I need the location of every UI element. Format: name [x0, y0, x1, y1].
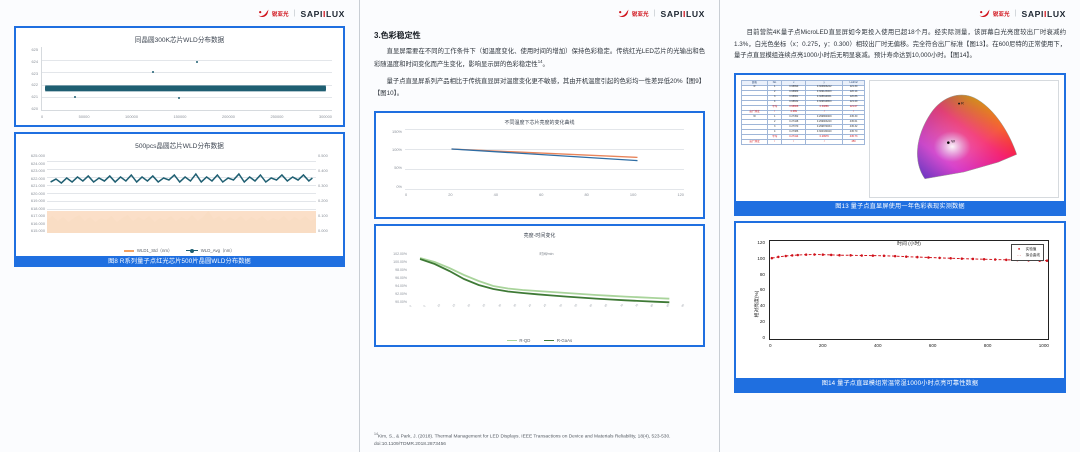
figure-9-y-axis: 150% 100% 50% 0%: [381, 129, 402, 189]
figure-14: 相对亮度(%) 120100 8060 4020 0: [734, 221, 1066, 393]
figure-7-plot: 625 624 623 622 621 620: [41, 47, 332, 125]
legend-item-gaas: GaAs: [512, 216, 535, 219]
slide-deck: 锐亚光 | SAPIILUX 同晶圆300K芯片WLD分布数据 625 624 …: [0, 0, 1080, 452]
color-measurement-table: 颜色 No. x y Lcd/m2 R10.688990.30680622212…: [741, 80, 865, 145]
figure-8-body: 500pcs晶圆芯片WLD分布数据 625.000624.000 623.000…: [16, 134, 343, 256]
swoosh-icon: [979, 9, 990, 18]
svg-text:W: W: [951, 138, 955, 143]
figure-10-plot: 102.00%100.00% 98.00%96.00% 94.00%92.00%…: [409, 252, 684, 336]
table-body: R10.688990.306806222121.3020.688890.3091…: [742, 85, 865, 144]
section-heading: 3.色彩稳定性: [374, 30, 705, 41]
logo-divider: |: [654, 10, 656, 17]
figure-10-caption: 图10 量子点红光芯片与GaAs红光芯片随开机时间亮度衰减对比: [376, 345, 703, 347]
logo-chinese-text: 锐亚光: [993, 10, 1010, 18]
figure-14-canvas: ●实验值 - -拟合曲线: [769, 240, 1049, 340]
wld-std-area-series: [47, 211, 316, 233]
legend-item-fit: - -拟合曲线: [1015, 252, 1040, 258]
figure-14-legend: ●实验值 - -拟合曲线: [1011, 244, 1044, 261]
figure-10-title: 亮度-时间变化: [381, 232, 698, 239]
swoosh-icon: [258, 9, 269, 18]
figure-9-x-axis: 020 4060 80100 120: [405, 192, 684, 197]
legend-item-wld-avg: WLD_Avg（nm）: [186, 248, 234, 254]
legend-item-r-gaas: R-GaAs: [544, 338, 572, 343]
figure-14-plot: 相对亮度(%) 120100 8060 4020 0: [769, 240, 1049, 368]
figure-10-legend: R-QD R-GaAs: [381, 338, 698, 343]
figure-13-caption: 图13 量子点直显屏使用一年色彩表现实测数据: [736, 201, 1064, 214]
figure-8: 500pcs晶圆芯片WLD分布数据 625.000624.000 623.000…: [14, 132, 345, 267]
figure-8-plot: 625.000624.000 623.000622.000 621.000620…: [47, 153, 316, 245]
brand-logo: 锐亚光 | SAPIILUX: [618, 9, 705, 19]
cell-l: 450: [843, 140, 865, 145]
cell-x: /: [782, 140, 806, 145]
cell-y: /: [806, 140, 843, 145]
page-right: 锐亚光 | SAPIILUX 目前营院4K量子点MicroLED直显屏如今距投入…: [720, 0, 1080, 452]
logo-bar-mid: 锐亚光 | SAPIILUX: [374, 6, 705, 21]
footnote: 14Kim, S., & Park, J. (2018). Thermal Ma…: [374, 427, 705, 448]
swoosh-icon: [618, 9, 629, 18]
table-row: 出厂测试///450: [742, 140, 865, 145]
figure-7-body: 同晶圆300K芯片WLD分布数据 625 624 623 622 621 620: [16, 28, 343, 127]
figure-7-canvas: [41, 47, 332, 111]
figure-8-caption: 图8 R系列量子点红光芯片500片晶圆WLD分布数据: [16, 256, 343, 267]
figure-13-body: 颜色 No. x y Lcd/m2 R10.688990.30680622212…: [736, 75, 1064, 201]
figure-8-y-axis-left: 625.000624.000 623.000622.000 621.000620…: [21, 153, 45, 233]
figure-9-body: 不同温度下芯片亮度的变化曲线 150% 100% 50% 0%: [376, 113, 703, 219]
figure-8-canvas: [47, 153, 316, 233]
figure-9-legend: GaAs RJ: [381, 216, 698, 219]
figure-8-title: 500pcs晶圆芯片WLD分布数据: [21, 140, 338, 150]
wld-data-band: [45, 86, 326, 91]
figure-7-y-axis: 625 624 623 622 621 620: [21, 47, 38, 111]
brand-logo: 锐亚光 | SAPIILUX: [979, 9, 1066, 19]
figure-9: 不同温度下芯片亮度的变化曲线 150% 100% 50% 0%: [374, 111, 705, 219]
figure-14-body: 相对亮度(%) 120100 8060 4020 0: [736, 223, 1064, 378]
figure-10-y-axis: 102.00%100.00% 98.00%96.00% 94.00%92.00%…: [381, 252, 407, 304]
logo-chinese-text: 锐亚光: [272, 10, 289, 18]
figure-9-plot: 150% 100% 50% 0% 020: [405, 129, 684, 205]
legend-item-rj: RJ: [549, 216, 567, 219]
figure-10-body: 亮度-时间变化 102.00%100.00% 98.00%96.00% 94.0…: [376, 226, 703, 345]
figure-10-canvas: [409, 252, 684, 304]
brand-logo: 锐亚光 | SAPIILUX: [258, 9, 345, 19]
figure-9-canvas: [405, 129, 684, 189]
legend-item-r-qd: R-QD: [507, 338, 530, 343]
logo-bar-left: 锐亚光 | SAPIILUX: [14, 6, 345, 21]
cell-group: 出厂测试: [742, 140, 768, 145]
page-left: 锐亚光 | SAPIILUX 同晶圆300K芯片WLD分布数据 625 624 …: [0, 0, 360, 452]
figure-7: 同晶圆300K芯片WLD分布数据 625 624 623 622 621 620: [14, 26, 345, 127]
figure-13: 颜色 No. x y Lcd/m2 R10.688990.30680622212…: [734, 73, 1066, 216]
logo-english-text: SAPIILUX: [661, 9, 705, 19]
paragraph-1: 直显屏需要在不同的工作条件下（如温度变化、使用时间的增加）保持色彩稳定。传统红光…: [374, 46, 705, 70]
figure-8-legend: WLD1_Std（nm） WLD_Avg（nm）: [21, 248, 338, 254]
figure-14-y-axis: 120100 8060 4020 0: [749, 240, 765, 340]
wld-avg-line-series: [47, 171, 316, 189]
cie-chromaticity-diagram: W R: [869, 80, 1059, 198]
logo-chinese-text: 锐亚光: [632, 10, 649, 18]
figure-10: 亮度-时间变化 102.00%100.00% 98.00%96.00% 94.0…: [374, 224, 705, 347]
paragraph-2: 量子点直显屏系列产品相比于传统直显屏对温度变化更不敏感，其由开机温度引起的色彩均…: [374, 76, 705, 99]
cell-no: /: [768, 140, 782, 145]
logo-divider: |: [1015, 10, 1017, 17]
figure-14-x-axis: 0200 400600 8001000: [769, 343, 1049, 348]
page-middle: 锐亚光 | SAPIILUX 3.色彩稳定性 直显屏需要在不同的工作条件下（如温…: [360, 0, 720, 452]
logo-english-text: SAPIILUX: [301, 9, 345, 19]
right-paragraph: 目前营院4K量子点MicroLED直显屏如今距投入使用已超18个月。经实际测量，…: [734, 27, 1066, 62]
figure-14-caption: 图14 量子点直显模组常温常湿1000小时点亮可靠性数据: [736, 378, 1064, 391]
legend-item-wld-std: WLD1_Std（nm）: [124, 248, 172, 254]
figure-9-title: 不同温度下芯片亮度的变化曲线: [381, 119, 698, 126]
svg-text:R: R: [961, 100, 964, 105]
logo-english-text: SAPIILUX: [1022, 9, 1066, 19]
logo-divider: |: [294, 10, 296, 17]
figure-7-x-axis: 0 50000 100000 150000 200000 250000 3000…: [41, 114, 332, 119]
logo-bar-right: 锐亚光 | SAPIILUX: [734, 6, 1066, 21]
figure-8-y-axis-right: 0.5000.400 0.3000.200 0.1000.000: [318, 153, 338, 233]
figure-7-title: 同晶圆300K芯片WLD分布数据: [21, 34, 338, 44]
figure-10-x-axis: 05 1015 2025 3035 4045 5055 6065 7075 80…: [409, 306, 684, 324]
